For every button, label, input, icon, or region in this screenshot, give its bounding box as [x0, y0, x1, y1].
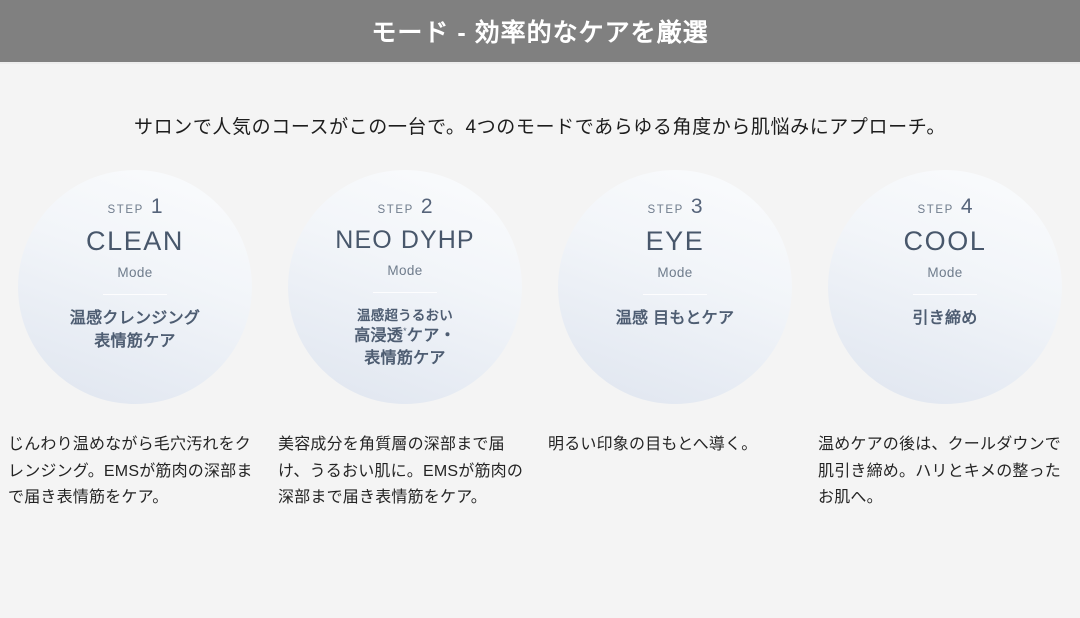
intro-section: サロンで人気のコースがこの一台で。4つのモードであらゆる角度から肌悩みにアプロー… [0, 64, 1080, 139]
mode-circles-row: STEP 1 CLEAN Mode 温感クレンジング 表情筋ケア STEP 2 … [0, 170, 1080, 404]
mode-column-4: STEP 4 COOL Mode 引き締め [810, 170, 1080, 404]
captions-row: じんわり温めながら毛穴汚れをクレンジング。EMSが筋肉の深部まで届き表情筋をケア… [0, 432, 1080, 512]
mode-desc-line: 引き締め [912, 308, 977, 331]
caption-column-4: 温めケアの後は、クールダウンで肌引き締め。ハリとキメの整ったお肌へ。 [810, 432, 1080, 512]
caption-text-neo-dyhp: 美容成分を角質層の深部まで届け、うるおい肌に。EMSが筋肉の深部まで届き表情筋を… [278, 432, 526, 512]
mode-description-3: 温感 目もとケア [616, 308, 735, 331]
caption-text-cool: 温めケアの後は、クールダウンで肌引き締め。ハリとキメの整ったお肌へ。 [818, 432, 1066, 512]
mode-name-eye: EYE [646, 228, 705, 255]
step-label-4: STEP 4 [917, 196, 972, 215]
mode-circle-eye[interactable]: STEP 3 EYE Mode 温感 目もとケア [558, 170, 792, 404]
step-word: STEP [647, 204, 683, 216]
divider-line-1 [103, 294, 167, 295]
mode-desc-line: 表情筋ケア [354, 348, 456, 371]
step-label-3: STEP 3 [647, 196, 702, 215]
caption-text-clean: じんわり温めながら毛穴汚れをクレンジング。EMSが筋肉の深部まで届き表情筋をケア… [8, 432, 256, 512]
step-number: 1 [151, 196, 163, 217]
step-number: 3 [691, 196, 703, 217]
mode-desc-line: 温感クレンジング [70, 308, 200, 331]
divider-line-4 [913, 294, 977, 295]
step-number: 4 [961, 196, 973, 217]
mode-column-3: STEP 3 EYE Mode 温感 目もとケア [540, 170, 810, 404]
mode-name-neo-dyhp: NEO DYHP [335, 228, 474, 253]
divider-line-2 [373, 292, 437, 293]
mode-circle-neo-dyhp[interactable]: STEP 2 NEO DYHP Mode 温感超うるおい 高浸透*ケア・ 表情筋… [288, 170, 522, 404]
step-label-2: STEP 2 [377, 196, 432, 215]
mode-desc-line: 温感超うるおい [354, 306, 456, 325]
mode-sub-label-3: Mode [657, 265, 692, 280]
mode-name-clean: CLEAN [86, 228, 184, 255]
step-word: STEP [107, 204, 143, 216]
mode-desc-line: 温感 目もとケア [616, 308, 735, 331]
mode-desc-part: 高浸透 [354, 327, 403, 344]
mode-description-1: 温感クレンジング 表情筋ケア [70, 308, 200, 353]
mode-description-2: 温感超うるおい 高浸透*ケア・ 表情筋ケア [354, 306, 456, 371]
mode-sub-label-4: Mode [927, 265, 962, 280]
step-word: STEP [377, 204, 413, 216]
page-title: モード - 効率的なケアを厳選 [371, 13, 708, 49]
page-header: モード - 効率的なケアを厳選 [0, 0, 1080, 64]
mode-desc-line: 表情筋ケア [70, 331, 200, 354]
mode-circle-cool[interactable]: STEP 4 COOL Mode 引き締め [828, 170, 1062, 404]
mode-sub-label-2: Mode [387, 263, 422, 278]
caption-column-3: 明るい印象の目もとへ導く。 [540, 432, 810, 459]
caption-column-2: 美容成分を角質層の深部まで届け、うるおい肌に。EMSが筋肉の深部まで届き表情筋を… [270, 432, 540, 512]
mode-description-4: 引き締め [912, 308, 977, 331]
mode-name-cool: COOL [904, 228, 987, 255]
step-number: 2 [421, 196, 433, 217]
mode-circle-clean[interactable]: STEP 1 CLEAN Mode 温感クレンジング 表情筋ケア [18, 170, 252, 404]
mode-desc-line: 高浸透*ケア・ [354, 325, 456, 348]
step-word: STEP [917, 204, 953, 216]
mode-desc-part-tail: ケア・ [407, 327, 456, 344]
mode-sub-label-1: Mode [117, 265, 152, 280]
caption-text-eye: 明るい印象の目もとへ導く。 [548, 432, 796, 459]
mode-column-1: STEP 1 CLEAN Mode 温感クレンジング 表情筋ケア [0, 170, 270, 404]
intro-paragraph: サロンで人気のコースがこの一台で。4つのモードであらゆる角度から肌悩みにアプロー… [134, 112, 946, 139]
divider-line-3 [643, 294, 707, 295]
mode-column-2: STEP 2 NEO DYHP Mode 温感超うるおい 高浸透*ケア・ 表情筋… [270, 170, 540, 404]
caption-column-1: じんわり温めながら毛穴汚れをクレンジング。EMSが筋肉の深部まで届き表情筋をケア… [0, 432, 270, 512]
step-label-1: STEP 1 [107, 196, 162, 215]
